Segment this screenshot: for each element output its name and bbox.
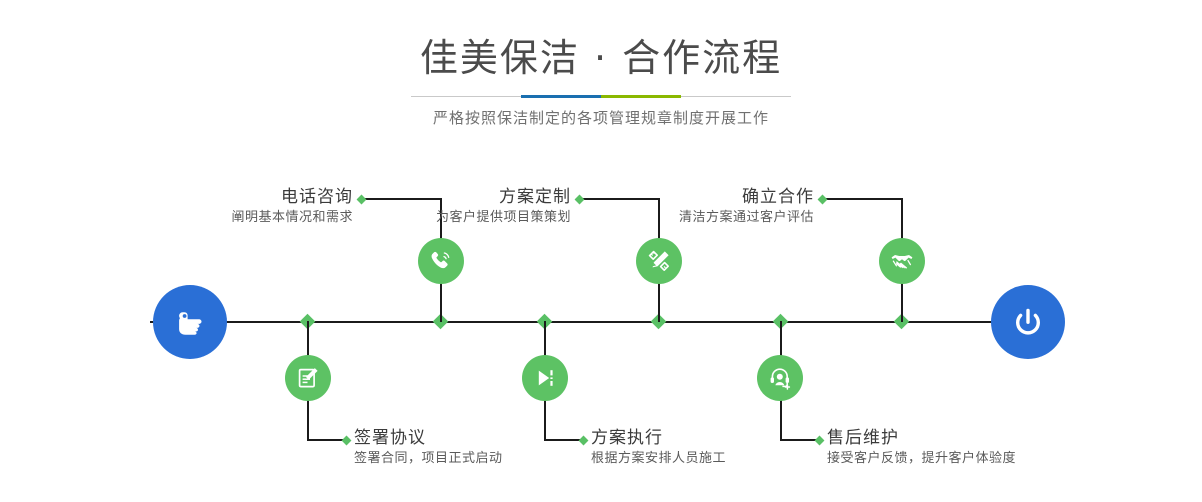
step-node-1[interactable] [418, 238, 464, 284]
step-desc-1: 阐明基本情况和需求 [148, 208, 353, 228]
label-marker-step-2 [342, 436, 352, 446]
phone-call-icon [428, 248, 454, 274]
step-desc-2: 签署合同，项目正式启动 [354, 449, 614, 469]
page-title: 佳美保洁 · 合作流程 [0, 34, 1202, 82]
step-desc-4: 根据方案安排人员施工 [591, 449, 851, 469]
timeline-end-node[interactable] [991, 285, 1065, 359]
play-skip-icon [532, 365, 558, 391]
step-desc-6: 接受客户反馈，提升客户体验度 [827, 449, 1107, 469]
step-label-2: 签署协议 签署合同，项目正式启动 [354, 427, 614, 469]
step-title-6: 售后维护 [827, 427, 1107, 449]
label-marker-step-5 [818, 195, 828, 205]
customer-service-icon [767, 365, 793, 391]
step-label-4: 方案执行 根据方案安排人员施工 [591, 427, 851, 469]
step-node-4[interactable] [522, 355, 568, 401]
step-node-2[interactable] [285, 355, 331, 401]
step-title-3: 方案定制 [366, 186, 571, 208]
step-node-3[interactable] [636, 238, 682, 284]
page-subtitle: 严格按照保洁制定的各项管理规章制度开展工作 [0, 106, 1202, 130]
step-node-6[interactable] [757, 355, 803, 401]
step-title-2: 签署协议 [354, 427, 614, 449]
step-title-4: 方案执行 [591, 427, 851, 449]
step-node-5[interactable] [879, 238, 925, 284]
divider-segment-blue [521, 95, 601, 98]
step-desc-5: 清洁方案通过客户评估 [609, 208, 814, 228]
divider-segment-green [601, 95, 681, 98]
step-label-6: 售后维护 接受客户反馈，提升客户体验度 [827, 427, 1107, 469]
timeline-start-node[interactable] [153, 285, 227, 359]
pointing-hand-icon [170, 302, 210, 342]
label-marker-step-3 [575, 195, 585, 205]
title-divider [411, 95, 791, 98]
connector-arm-step-5 [823, 198, 903, 200]
step-label-5: 确立合作 清洁方案通过客户评估 [609, 186, 814, 228]
step-label-1: 电话咨询 阐明基本情况和需求 [148, 186, 353, 228]
step-desc-3: 为客户提供项目策策划 [366, 208, 571, 228]
process-timeline: 电话咨询 阐明基本情况和需求 签署协议 签署合同，项目正式启动 [0, 150, 1202, 502]
step-title-5: 确立合作 [609, 186, 814, 208]
step-label-3: 方案定制 为客户提供项目策策划 [366, 186, 571, 228]
page-header: 佳美保洁 · 合作流程 严格按照保洁制定的各项管理规章制度开展工作 [0, 0, 1202, 150]
step-title-1: 电话咨询 [148, 186, 353, 208]
timeline-rail [150, 321, 1052, 323]
document-pen-icon [295, 365, 321, 391]
power-icon [1008, 302, 1048, 342]
label-marker-step-1 [357, 195, 367, 205]
handshake-icon [889, 248, 915, 274]
pencil-ruler-icon [646, 248, 672, 274]
